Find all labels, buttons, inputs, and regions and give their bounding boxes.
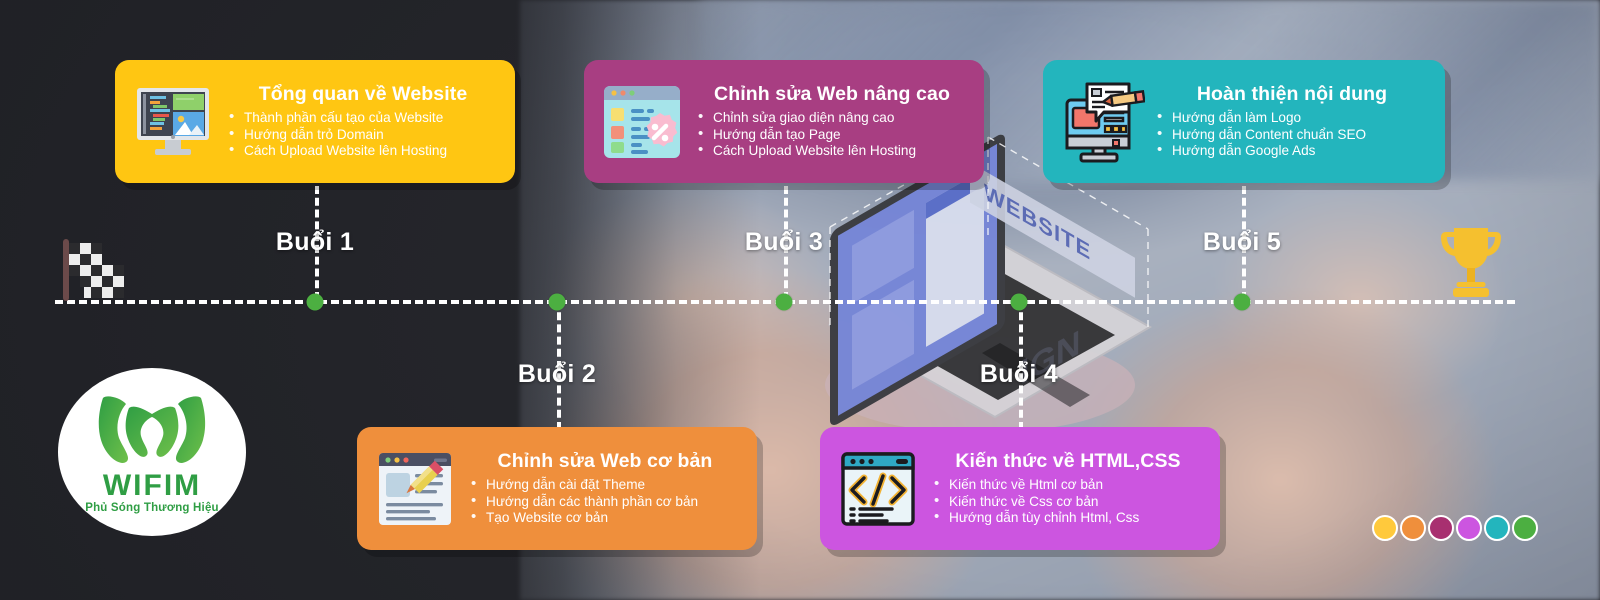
card-title: Hoàn thiện nội dung [1155,83,1429,106]
wifim-m-logo-icon [93,390,211,470]
card-bullet-list: Hướng dẫn cài đặt Theme Hướng dẫn các th… [469,477,741,527]
card-title: Chỉnh sửa Web nâng cao [696,83,968,106]
document-pencil-icon [371,445,459,533]
stop-label-3: Buổi 3 [745,228,823,257]
card-body: Kiến thức về HTML,CSS Kiến thức về Html … [922,450,1206,527]
stop-label-1: Buổi 1 [276,228,354,257]
card-title: Chỉnh sửa Web cơ bản [469,450,741,473]
list-item: Hướng dẫn trỏ Domain [227,127,499,144]
palette-dot-yellow [1372,515,1398,541]
list-item: Hướng dẫn tùy chỉnh Html, Css [932,510,1204,527]
code-browser-icon [834,445,922,533]
palette-dot-purple [1456,515,1482,541]
card-bullet-list: Kiến thức về Html cơ bản Kiến thức về Cs… [932,477,1204,527]
list-item: Hướng dẫn tạo Page [696,127,968,144]
stop-label-5: Buổi 5 [1203,228,1281,257]
brand-logo: WIFIM Phủ Sóng Thương Hiệu [58,368,246,536]
list-item: Kiến thức về Html cơ bản [932,477,1204,494]
card-bullet-list: Chỉnh sửa giao diện nâng cao Hướng dẫn t… [696,110,968,160]
list-item: Hướng dẫn làm Logo [1155,110,1429,127]
card-advanced-edit[interactable]: Chỉnh sửa Web nâng cao Chỉnh sửa giao di… [584,60,984,183]
infographic-canvas: WEBSITE IGN Buổi 1 Buổi 2 Bu [0,0,1600,600]
card-body: Tổng quan về Website Thành phần cấu tạo … [217,83,501,160]
timeline-node-3 [776,294,793,311]
card-basic-edit[interactable]: Chỉnh sửa Web cơ bản Hướng dẫn cài đặt T… [357,427,757,550]
logo-tagline: Phủ Sóng Thương Hiệu [85,502,219,514]
card-title: Kiến thức về HTML,CSS [932,450,1204,473]
card-title: Tổng quan về Website [227,83,499,106]
list-item: Hướng dẫn các thành phần cơ bản [469,494,741,511]
stop-label-4: Buổi 4 [980,360,1058,389]
card-body: Chỉnh sửa Web cơ bản Hướng dẫn cài đặt T… [459,450,743,527]
list-item: Cách Upload Website lên Hosting [227,143,499,160]
list-item: Tạo Website cơ bản [469,510,741,527]
list-item: Hướng dẫn Google Ads [1155,143,1429,160]
logo-wordmark: WIFIM [103,471,201,501]
timeline-node-5 [1234,294,1251,311]
card-bullet-list: Thành phần cấu tạo của Website Hướng dẫn… [227,110,499,160]
list-item: Kiến thức về Css cơ bản [932,494,1204,511]
timeline-node-1 [307,294,324,311]
timeline-node-4 [1011,294,1028,311]
checkered-flag-icon [60,237,136,303]
list-item: Thành phần cấu tạo của Website [227,110,499,127]
trophy-icon [1437,222,1505,302]
card-html-css[interactable]: Kiến thức về HTML,CSS Kiến thức về Html … [820,427,1220,550]
list-item: Cách Upload Website lên Hosting [696,143,968,160]
card-bullet-list: Hướng dẫn làm Logo Hướng dẫn Content chu… [1155,110,1429,160]
desktop-code-icon [129,78,217,166]
palette-dot-magenta [1428,515,1454,541]
card-content[interactable]: Hoàn thiện nội dung Hướng dẫn làm Logo H… [1043,60,1445,183]
monitor-pencil-icon [1057,78,1145,166]
browser-discount-icon [598,78,686,166]
card-body: Chỉnh sửa Web nâng cao Chỉnh sửa giao di… [686,83,970,160]
stop-label-2: Buổi 2 [518,360,596,389]
palette-swatches [1372,515,1538,541]
timeline-node-2 [549,294,566,311]
list-item: Chỉnh sửa giao diện nâng cao [696,110,968,127]
card-body: Hoàn thiện nội dung Hướng dẫn làm Logo H… [1145,83,1431,160]
list-item: Hướng dẫn Content chuẩn SEO [1155,127,1429,144]
list-item: Hướng dẫn cài đặt Theme [469,477,741,494]
palette-dot-green [1512,515,1538,541]
palette-dot-teal [1484,515,1510,541]
palette-dot-orange [1400,515,1426,541]
card-overview[interactable]: Tổng quan về Website Thành phần cấu tạo … [115,60,515,183]
